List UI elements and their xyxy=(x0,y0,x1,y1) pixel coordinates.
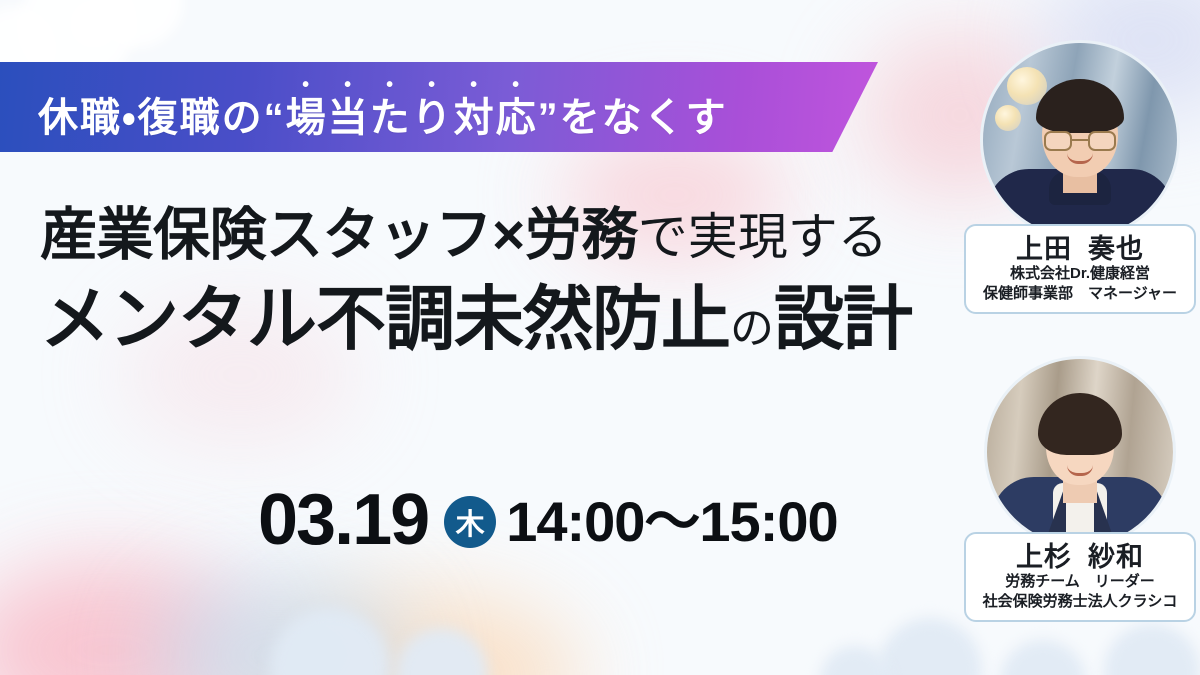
speaker-given-name: 奏也 xyxy=(1088,234,1144,264)
headline-line-1-light: で実現する xyxy=(638,209,888,265)
glasses-icon xyxy=(1044,131,1116,151)
bokeh-circle-10 xyxy=(820,646,890,675)
name-card-ueda: 上田奏也 株式会社Dr.健康経営 保健師事業部 マネージャー xyxy=(964,224,1196,314)
headline-line-1: 産業保険スタッフ×労務で実現する xyxy=(40,206,970,265)
speaker-family-name: 上杉 xyxy=(1016,542,1072,572)
speaker-photo-uesugi xyxy=(984,356,1176,548)
tagline-prefix: 休職・復職の“ xyxy=(38,96,286,140)
tagline-ribbon: 休職・復職の“場当たり対応”をなくす xyxy=(0,62,878,152)
speaker-photo-ueda xyxy=(980,40,1180,240)
bokeh-circle-7 xyxy=(878,618,982,675)
headline-line-1-strong: 産業保険スタッフ×労務 xyxy=(40,203,638,267)
name-card-uesugi: 上杉紗和 労務チーム リーダー 社会保険労務士法人クラシコ xyxy=(964,532,1196,622)
bokeh-circle-9 xyxy=(1104,624,1200,675)
speaker-name-ueda: 上田奏也 xyxy=(972,234,1188,264)
glasses-lens-right xyxy=(1088,131,1116,151)
speaker-card-uesugi: 上杉紗和 労務チーム リーダー 社会保険労務士法人クラシコ xyxy=(960,356,1200,622)
headline-line-2-particle: の xyxy=(730,304,774,353)
glasses-lens-left xyxy=(1044,131,1072,151)
pendant-lamp-small-icon xyxy=(995,105,1021,131)
bokeh-circle-8 xyxy=(1000,640,1086,675)
headline-line-2-strong-a: メンタル不調未然防止 xyxy=(40,280,730,358)
headline-line-2: メンタル不調未然防止の設計 xyxy=(40,283,970,356)
webinar-banner: 休職・復職の“場当たり対応”をなくす 産業保険スタッフ×労務で実現する メンタル… xyxy=(0,0,1200,675)
event-time: 14:00〜15:00 xyxy=(506,494,837,550)
speaker-role-ueda: 保健師事業部 マネージャー xyxy=(972,284,1188,304)
speaker-org-ueda: 株式会社Dr.健康経営 xyxy=(972,264,1188,284)
schedule-row: 03.19 木 14:00〜15:00 xyxy=(258,484,838,556)
tagline-emphasized: 場当たり対応 xyxy=(286,96,538,140)
speaker-family-name: 上田 xyxy=(1016,234,1072,264)
speaker-name-uesugi: 上杉紗和 xyxy=(972,542,1188,572)
tagline-text: 休職・復職の“場当たり対応”をなくす xyxy=(38,74,728,140)
headline-line-2-strong-b: 設計 xyxy=(774,280,912,358)
glasses-bridge xyxy=(1072,139,1088,141)
speaker-card-ueda: 上田奏也 株式会社Dr.健康経営 保健師事業部 マネージャー xyxy=(960,40,1200,314)
tagline-suffix: ”をなくす xyxy=(538,96,728,140)
speaker-org-uesugi: 社会保険労務士法人クラシコ xyxy=(972,592,1188,612)
speaker-given-name: 紗和 xyxy=(1088,542,1144,572)
day-of-week-badge: 木 xyxy=(444,496,496,548)
event-date: 03.19 xyxy=(258,484,428,556)
speaker-role-uesugi: 労務チーム リーダー xyxy=(972,572,1188,592)
headline: 産業保険スタッフ×労務で実現する メンタル不調未然防止の設計 xyxy=(40,206,970,356)
